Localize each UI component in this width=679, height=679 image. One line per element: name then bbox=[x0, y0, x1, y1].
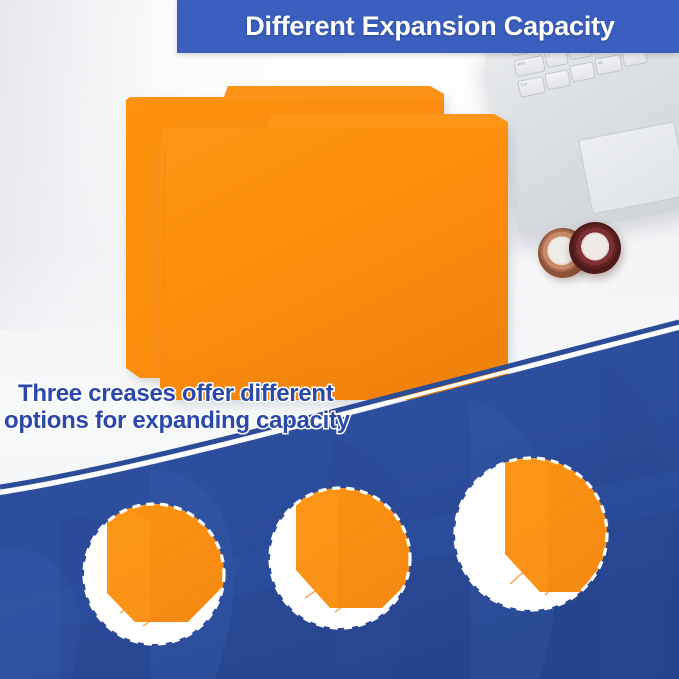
headline-line-2: options for expanding capacity bbox=[4, 408, 424, 435]
detail-circles bbox=[0, 0, 679, 679]
crease-detail-circle-2 bbox=[270, 480, 424, 628]
title-banner: Different Expansion Capacity bbox=[177, 0, 679, 53]
headline-line-1: Three creases offer different bbox=[18, 381, 424, 408]
crease-detail-circle-3 bbox=[455, 448, 615, 610]
headline: Three creases offer different options fo… bbox=[4, 381, 424, 435]
product-infographic: Caps F1 Shift Z X C Ctrl Alt bbox=[0, 0, 679, 679]
crease-detail-circle-1 bbox=[84, 496, 243, 644]
page-title: Different Expansion Capacity bbox=[245, 13, 615, 40]
